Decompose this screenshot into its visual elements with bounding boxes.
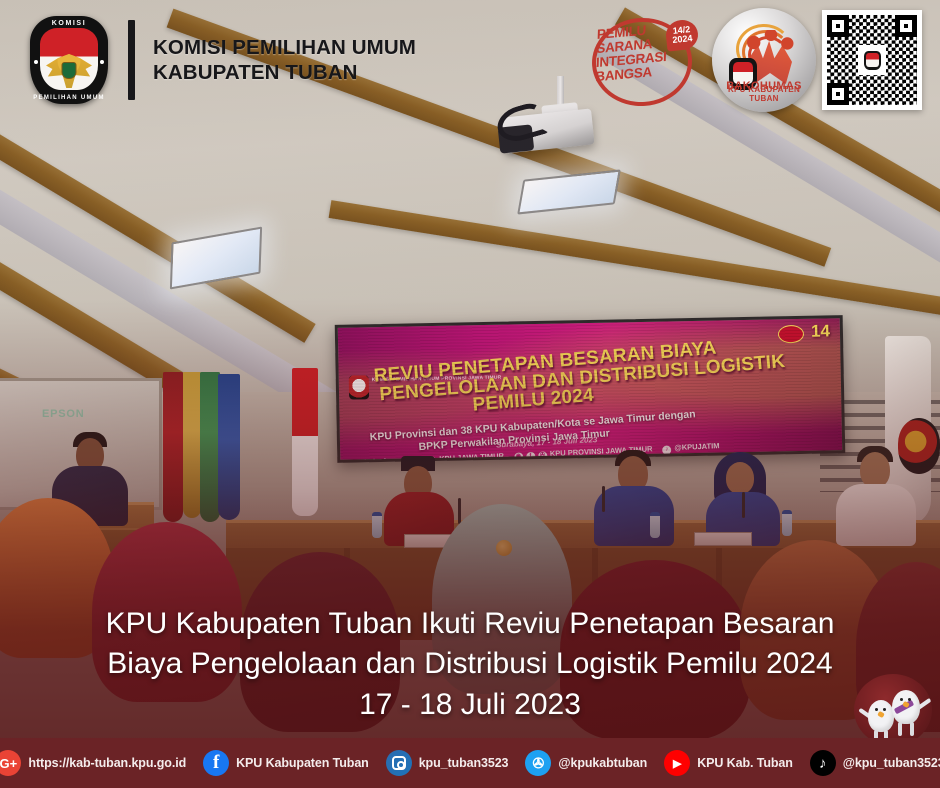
footer-label-website: https://kab-tuban.kpu.go.id bbox=[28, 756, 186, 770]
poster-caption: KPU Kabupaten Tuban Ikuti Reviu Penetapa… bbox=[0, 604, 940, 726]
header-badges: PEMILU SARANA INTEGRASI BANGSA 14/2 2024… bbox=[588, 8, 926, 112]
instagram-icon bbox=[386, 750, 412, 776]
qr-code[interactable] bbox=[822, 10, 922, 110]
footer-item-instagram[interactable]: kpu_tuban3523 bbox=[386, 750, 509, 776]
bakohumas-logo: BAKOHUMAS KPU KABUPATEN TUBAN bbox=[712, 8, 816, 112]
google-plus-icon: G+ bbox=[0, 750, 21, 776]
header-divider bbox=[128, 20, 135, 100]
sura-baya-mascots-icon bbox=[854, 674, 932, 746]
pemilu-sarana-integrasi-bangsa-stamp: PEMILU SARANA INTEGRASI BANGSA 14/2 2024 bbox=[588, 8, 706, 112]
qr-finder-icon bbox=[895, 15, 917, 37]
organization-title: KOMISI PEMILIHAN UMUM KABUPATEN TUBAN bbox=[153, 35, 416, 85]
footer-label-youtube: KPU Kab. Tuban bbox=[697, 756, 793, 770]
footer-item-twitter[interactable]: ✇ @kpukabtuban bbox=[525, 750, 647, 776]
footer-item-youtube[interactable]: ▶ KPU Kab. Tuban bbox=[664, 750, 793, 776]
kpu-garuda-logo-icon: KOMISI PEMILIHAN UMUM bbox=[30, 16, 108, 104]
social-media-poster: EPSON KOMISI PEMILIHAN UMUM PROVINSI JAW… bbox=[0, 0, 940, 788]
qr-code-pattern bbox=[827, 15, 917, 105]
qr-finder-icon bbox=[827, 15, 849, 37]
election-date-year: 2024 bbox=[672, 34, 693, 45]
footer-label-tiktok: @kpu_tuban3523 bbox=[843, 756, 940, 770]
qr-center-logo-icon bbox=[858, 45, 886, 75]
poster-header: KOMISI PEMILIHAN UMUM KOMISI PEMILIHAN U… bbox=[0, 0, 940, 120]
youtube-icon: ▶ bbox=[664, 750, 690, 776]
facebook-icon: f bbox=[203, 750, 229, 776]
footer-label-twitter: @kpukabtuban bbox=[558, 756, 647, 770]
bakohumas-label-line2: KPU KABUPATEN TUBAN bbox=[712, 85, 816, 103]
footer-label-facebook: KPU Kabupaten Tuban bbox=[236, 756, 369, 770]
kpu-logo-text-bottom: PEMILIHAN UMUM bbox=[30, 95, 108, 101]
caption-line3-date: 17 - 18 Juli 2023 bbox=[26, 685, 914, 726]
footer-label-instagram: kpu_tuban3523 bbox=[419, 756, 509, 770]
tiktok-icon: ♪ bbox=[810, 750, 836, 776]
qr-finder-icon bbox=[827, 83, 849, 105]
footer-item-website[interactable]: G+ https://kab-tuban.kpu.go.id bbox=[0, 750, 186, 776]
organization-title-line1: KOMISI PEMILIHAN UMUM bbox=[153, 35, 416, 60]
caption-line2: Biaya Pengelolaan dan Distribusi Logisti… bbox=[26, 644, 914, 685]
footer-item-tiktok[interactable]: ♪ @kpu_tuban3523 bbox=[810, 750, 940, 776]
caption-line1: KPU Kabupaten Tuban Ikuti Reviu Penetapa… bbox=[26, 604, 914, 645]
organization-title-line2: KABUPATEN TUBAN bbox=[153, 60, 416, 85]
kpu-logo-text-top: KOMISI bbox=[30, 20, 108, 27]
twitter-icon: ✇ bbox=[525, 750, 551, 776]
social-media-footer: G+ https://kab-tuban.kpu.go.id f KPU Kab… bbox=[0, 738, 940, 788]
footer-item-facebook[interactable]: f KPU Kabupaten Tuban bbox=[203, 750, 369, 776]
